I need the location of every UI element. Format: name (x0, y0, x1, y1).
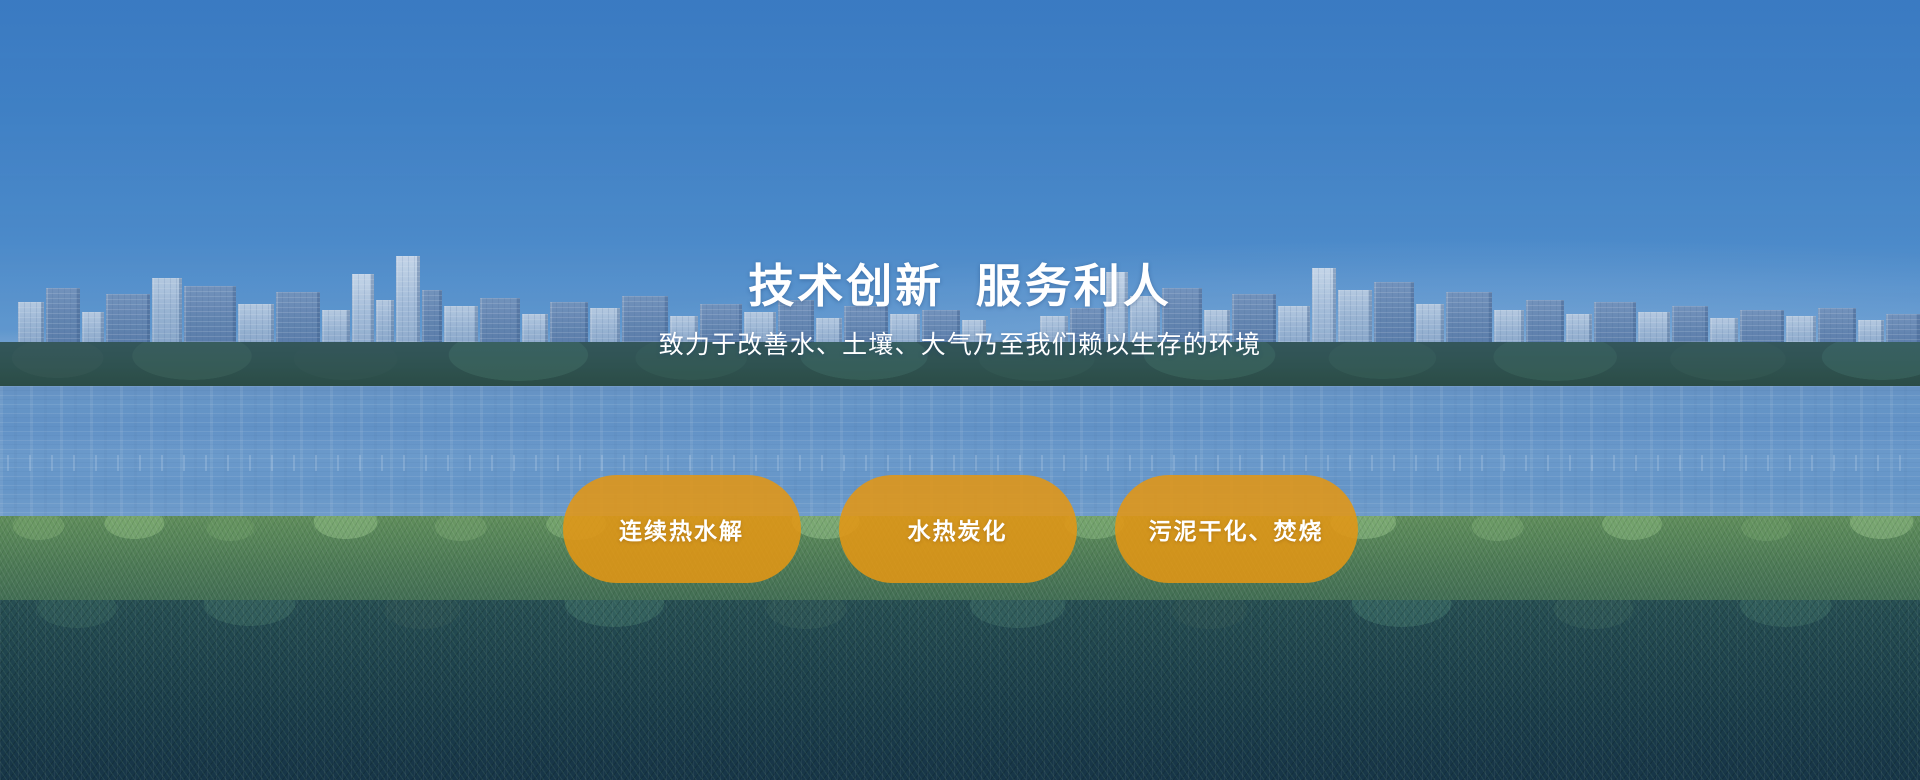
hero-banner: 技术创新 服务利人 致力于改善水、土壤、大气乃至我们赖以生存的环境 连续热水解 … (0, 0, 1920, 780)
hero-subtitle: 致力于改善水、土壤、大气乃至我们赖以生存的环境 (659, 330, 1262, 360)
hero-content: 技术创新 服务利人 致力于改善水、土壤、大气乃至我们赖以生存的环境 (0, 0, 1920, 780)
page-title: 技术创新 服务利人 (748, 262, 1172, 312)
